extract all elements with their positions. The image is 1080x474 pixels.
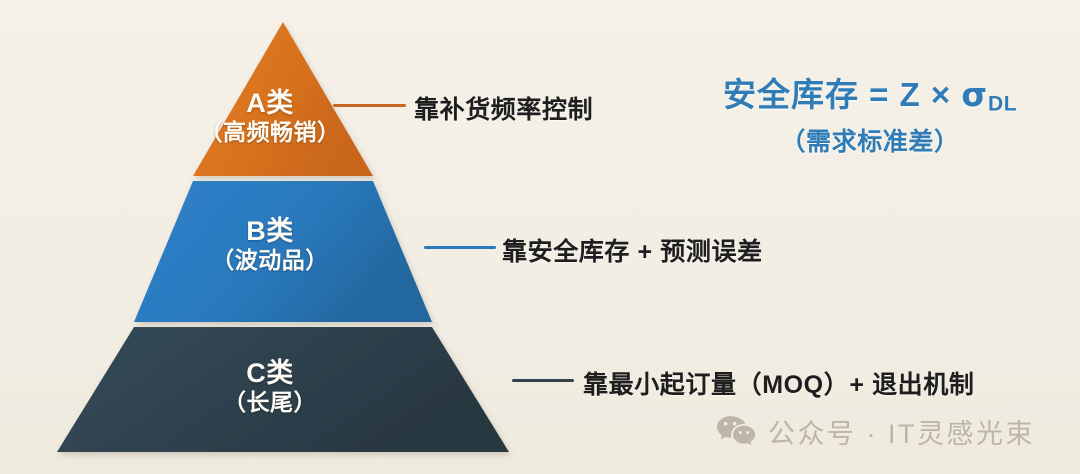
connector-line-a [333,104,406,107]
sigma-symbol: σ [961,75,988,114]
callout-tier-a: 靠补货频率控制 [414,90,593,126]
sigma-subscript: DL [988,93,1017,116]
connector-line-b [424,246,496,249]
pyramid-tier-b[interactable] [134,181,432,322]
pyramid-tier-a[interactable] [193,22,373,176]
connector-line-c [512,379,574,382]
formula-equation: 安全库存 = Z × σDL [690,68,1050,117]
watermark-text: 公众号 · IT灵感光束 [768,412,1035,451]
watermark: 公众号 · IT灵感光束 [716,412,1035,451]
formula-lead: 安全库存 = Z × [723,76,961,113]
formula-subtitle: （需求标准差） [690,122,1050,158]
pyramid-graphic: A类 （高频畅销） B类 （波动品） C类 （长尾） [0,0,540,474]
wechat-icon-svg [716,415,756,449]
diagram-canvas: A类 （高频畅销） B类 （波动品） C类 （长尾） 靠补货频率控制 靠安全库存… [0,0,1080,474]
pyramid-tier-c[interactable] [57,327,509,452]
pyramid-svg [0,0,540,474]
callout-tier-c: 靠最小起订量（MOQ）+ 退出机制 [583,365,974,401]
callout-tier-b: 靠安全库存 + 预测误差 [502,232,763,268]
wechat-icon [716,415,756,449]
safety-stock-formula: 安全库存 = Z × σDL （需求标准差） [690,68,1050,158]
